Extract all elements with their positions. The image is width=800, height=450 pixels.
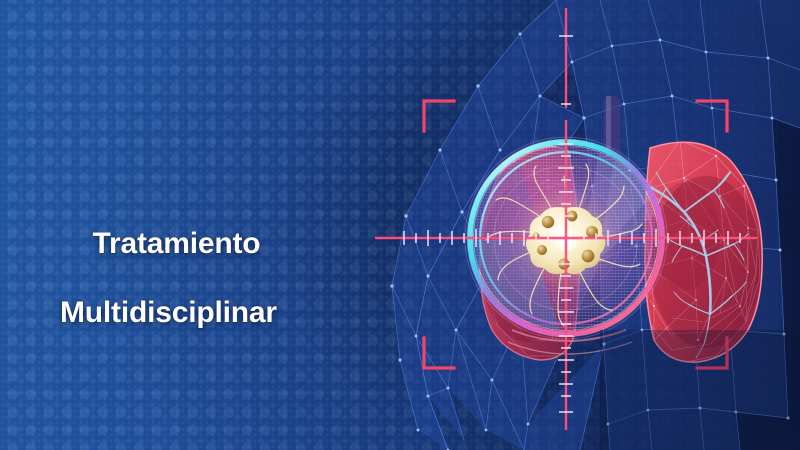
page-title: Tratamiento Multidisciplinar	[60, 192, 277, 401]
banner-canvas: Tratamiento Multidisciplinar	[0, 0, 800, 450]
title-line-2: Multidisciplinar	[60, 296, 277, 331]
title-line-1: Tratamiento	[93, 227, 261, 260]
trachea	[604, 96, 620, 156]
